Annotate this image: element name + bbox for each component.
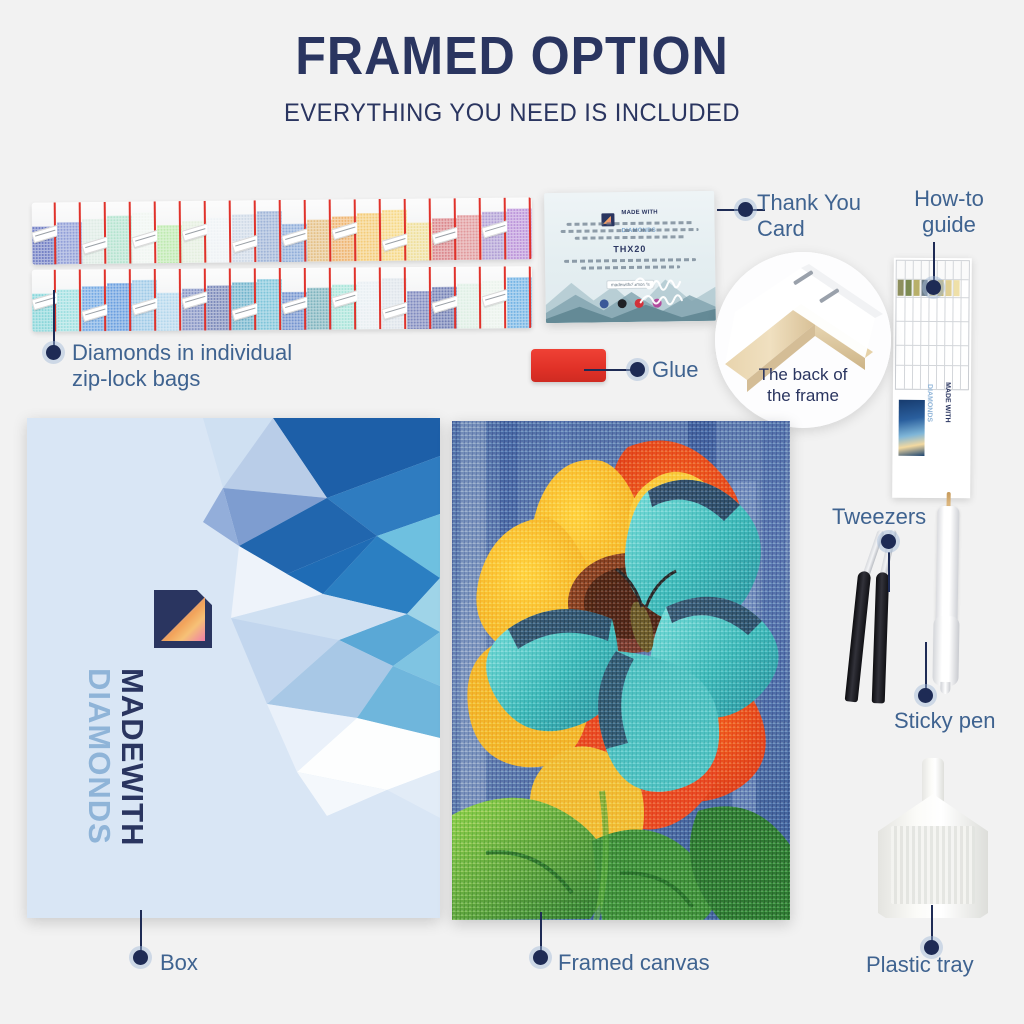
guide-label-panel: MADE WITH DIAMONDS	[894, 394, 969, 497]
callout-dot-tweezers	[881, 534, 896, 549]
leader-line-box	[140, 910, 142, 952]
callout-dot-thank-you	[738, 202, 753, 217]
leader-line-sticky-pen	[925, 642, 927, 690]
callout-dot-canvas	[533, 950, 548, 965]
zip-lock-bag	[32, 202, 58, 264]
callout-dot-sticky-pen	[918, 688, 933, 703]
guide-brand: MADE WITH DIAMONDS	[923, 382, 959, 446]
bag-zip-seal	[254, 268, 256, 330]
zip-lock-bag	[432, 267, 457, 329]
zip-lock-bag	[232, 200, 258, 262]
callout-label-thank-you: Thank You Card	[757, 190, 907, 242]
callout-label-diamonds: Diamonds in individual zip-lock bags	[72, 340, 372, 392]
guide-brand-line1: MADE WITH	[944, 382, 951, 423]
pen-grip	[932, 616, 959, 686]
facebook-icon	[600, 299, 609, 308]
leader-line-tweezers	[888, 552, 890, 592]
box-brand-line2: DIAMONDS	[83, 668, 116, 846]
zip-lock-bag	[482, 266, 507, 328]
infographic-root: FRAMED OPTION EVERYTHING YOU NEED IS INC…	[0, 0, 1024, 1024]
bag-zip-seal	[79, 269, 81, 331]
callout-dot-diamonds	[46, 345, 61, 360]
zip-lock-bag	[157, 201, 183, 263]
header: FRAMED OPTION EVERYTHING YOU NEED IS INC…	[0, 28, 1024, 128]
zip-lock-bag	[457, 267, 482, 329]
zip-lock-bag	[332, 267, 357, 329]
zip-lock-bag	[507, 266, 532, 328]
zip-lock-bag	[307, 199, 333, 261]
zip-lock-bag-row-top	[32, 197, 533, 264]
bag-zip-seal	[229, 268, 231, 330]
zip-lock-bag	[207, 201, 233, 263]
page-subtitle: EVERYTHING YOU NEED IS INCLUDED	[26, 99, 999, 128]
bag-zip-seal	[404, 267, 406, 329]
product-box: MADEWITH DIAMONDS	[27, 418, 440, 918]
callout-label-tray: Plastic tray	[866, 952, 1024, 978]
box-wordmark: MADEWITH DIAMONDS	[83, 668, 149, 846]
zip-lock-bag	[407, 267, 432, 329]
card-brand-line1: MADE WITH	[621, 210, 658, 217]
zip-lock-bag	[507, 197, 533, 259]
zip-lock-bag	[257, 200, 283, 262]
zip-lock-bag	[107, 202, 133, 264]
zip-lock-bag	[257, 268, 282, 330]
canvas-diamond-sparkle	[452, 421, 790, 920]
callout-dot-glue	[630, 362, 645, 377]
bag-zip-seal	[279, 268, 281, 330]
zip-lock-bag-row-bottom	[32, 266, 532, 331]
frame-back-bubble: The back of the frame	[715, 252, 891, 428]
leader-line-tray	[931, 905, 933, 943]
zip-lock-bag	[307, 268, 332, 330]
callout-label-how-to: How-to guide	[889, 186, 1009, 238]
sticky-pen	[934, 492, 960, 694]
zip-lock-bag	[182, 201, 208, 263]
bag-zip-seal	[379, 267, 381, 329]
zip-lock-bag	[132, 269, 157, 331]
card-thank-you-script	[627, 265, 708, 312]
brand-logo-icon	[154, 590, 212, 648]
zip-lock-bag	[407, 198, 433, 260]
plastic-tray	[878, 758, 988, 918]
zip-lock-bag	[232, 268, 257, 330]
zip-lock-bag	[107, 269, 132, 331]
bag-zip-seal	[529, 266, 531, 328]
zip-lock-bag	[357, 199, 383, 261]
callout-label-box: Box	[160, 950, 300, 976]
bag-zip-seal	[329, 268, 331, 330]
box-brand-line1: MADEWITH	[116, 668, 149, 846]
zip-lock-bag	[382, 267, 407, 329]
leader-line-diamonds	[53, 290, 55, 348]
callout-label-canvas: Framed canvas	[558, 950, 778, 976]
zip-lock-bag	[82, 269, 107, 331]
guide-thumbnail	[898, 400, 924, 456]
card-promo-code: THX20	[555, 243, 705, 255]
leader-line-canvas	[540, 912, 542, 952]
tray-ridges	[891, 826, 975, 904]
thank-you-card: MADE WITH DIAMONDS THX20 madewithdiamond…	[544, 191, 716, 323]
callout-dot-how-to	[926, 280, 941, 295]
zip-lock-bag	[57, 202, 83, 264]
zip-lock-bag	[57, 269, 82, 331]
bag-zip-seal	[104, 269, 106, 331]
callout-dot-box	[133, 950, 148, 965]
pen-cap	[940, 682, 950, 694]
zip-lock-bag	[282, 200, 308, 262]
tiktok-icon	[617, 299, 626, 308]
glue-tube	[531, 349, 606, 382]
page-title: FRAMED OPTION	[36, 28, 988, 85]
bag-zip-seal	[179, 269, 181, 331]
tweezers	[847, 527, 902, 704]
zip-lock-bag	[482, 198, 508, 260]
zip-lock-bag	[82, 202, 108, 264]
bag-zip-seal	[129, 269, 131, 331]
guide-brand-line2: DIAMONDS	[926, 384, 933, 422]
box-logo	[154, 590, 212, 648]
zip-lock-bag	[207, 268, 232, 330]
zip-lock-bag	[457, 198, 483, 260]
zip-lock-bag	[132, 201, 158, 263]
zip-lock-bag	[432, 198, 458, 260]
zip-lock-bag	[182, 269, 207, 331]
frame-bubble-caption: The back of the frame	[715, 365, 891, 406]
bag-zip-seal	[429, 267, 431, 329]
zip-lock-bag	[357, 267, 382, 329]
zip-lock-bag	[157, 269, 182, 331]
zip-lock-bag	[332, 199, 358, 261]
leader-line-how-to	[933, 242, 935, 284]
callout-label-tweezers: Tweezers	[832, 504, 992, 530]
zip-lock-bag	[382, 199, 408, 261]
framed-canvas	[452, 421, 790, 920]
callout-label-sticky-pen: Sticky pen	[894, 708, 1024, 734]
zip-lock-bag	[282, 268, 307, 330]
